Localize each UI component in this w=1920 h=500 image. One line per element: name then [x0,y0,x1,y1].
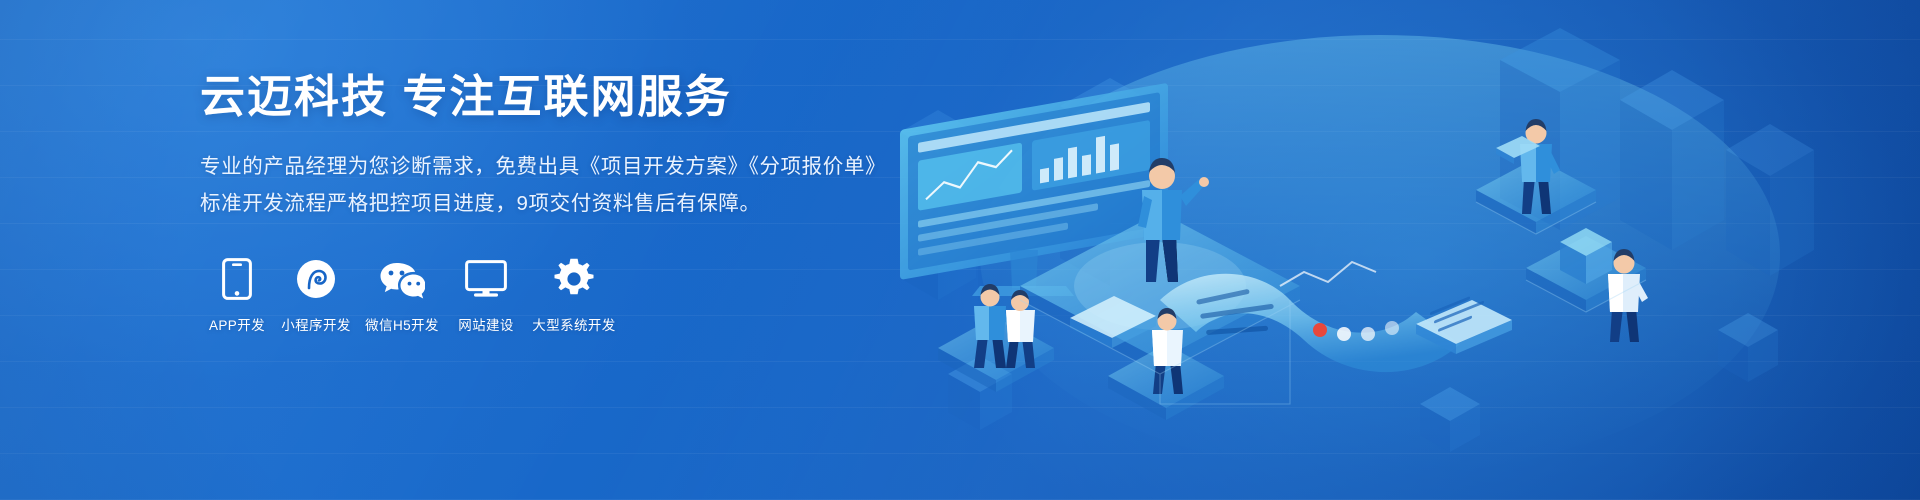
isometric-tech-illustration [860,0,1920,500]
wechat-icon [379,256,425,302]
service-item-system[interactable]: 大型系统开发 [526,256,622,334]
subtitle-line-1: 专业的产品经理为您诊断需求，免费出具《项目开发方案》《分项报价单》 [200,149,960,185]
subtitle-line-2: 标准开发流程严格把控项目进度，9项交付资料售后有保障。 [200,186,960,222]
service-list: APP开发 小程序开发 [200,256,960,334]
service-item-app[interactable]: APP开发 [200,256,274,334]
illustration-container [860,0,1920,500]
gear-icon [551,256,597,302]
service-label-app: APP开发 [209,314,265,334]
hero-subtitle: 专业的产品经理为您诊断需求，免费出具《项目开发方案》《分项报价单》 标准开发流程… [200,149,960,222]
hero-banner: 云迈科技 专注互联网服务 专业的产品经理为您诊断需求，免费出具《项目开发方案》《… [0,0,1920,500]
page-title: 云迈科技 专注互联网服务 [200,70,960,123]
service-item-miniprogram[interactable]: 小程序开发 [274,256,358,334]
service-label-website: 网站建设 [458,314,514,334]
service-item-website[interactable]: 网站建设 [446,256,526,334]
service-label-wechat: 微信H5开发 [365,314,439,334]
service-item-wechat[interactable]: 微信H5开发 [358,256,446,334]
mobile-phone-icon [214,256,260,302]
hero-copy: 云迈科技 专注互联网服务 专业的产品经理为您诊断需求，免费出具《项目开发方案》《… [200,0,960,500]
service-label-miniprogram: 小程序开发 [281,314,351,334]
mini-program-icon [293,256,339,302]
service-label-system: 大型系统开发 [532,314,615,334]
monitor-icon [463,256,509,302]
